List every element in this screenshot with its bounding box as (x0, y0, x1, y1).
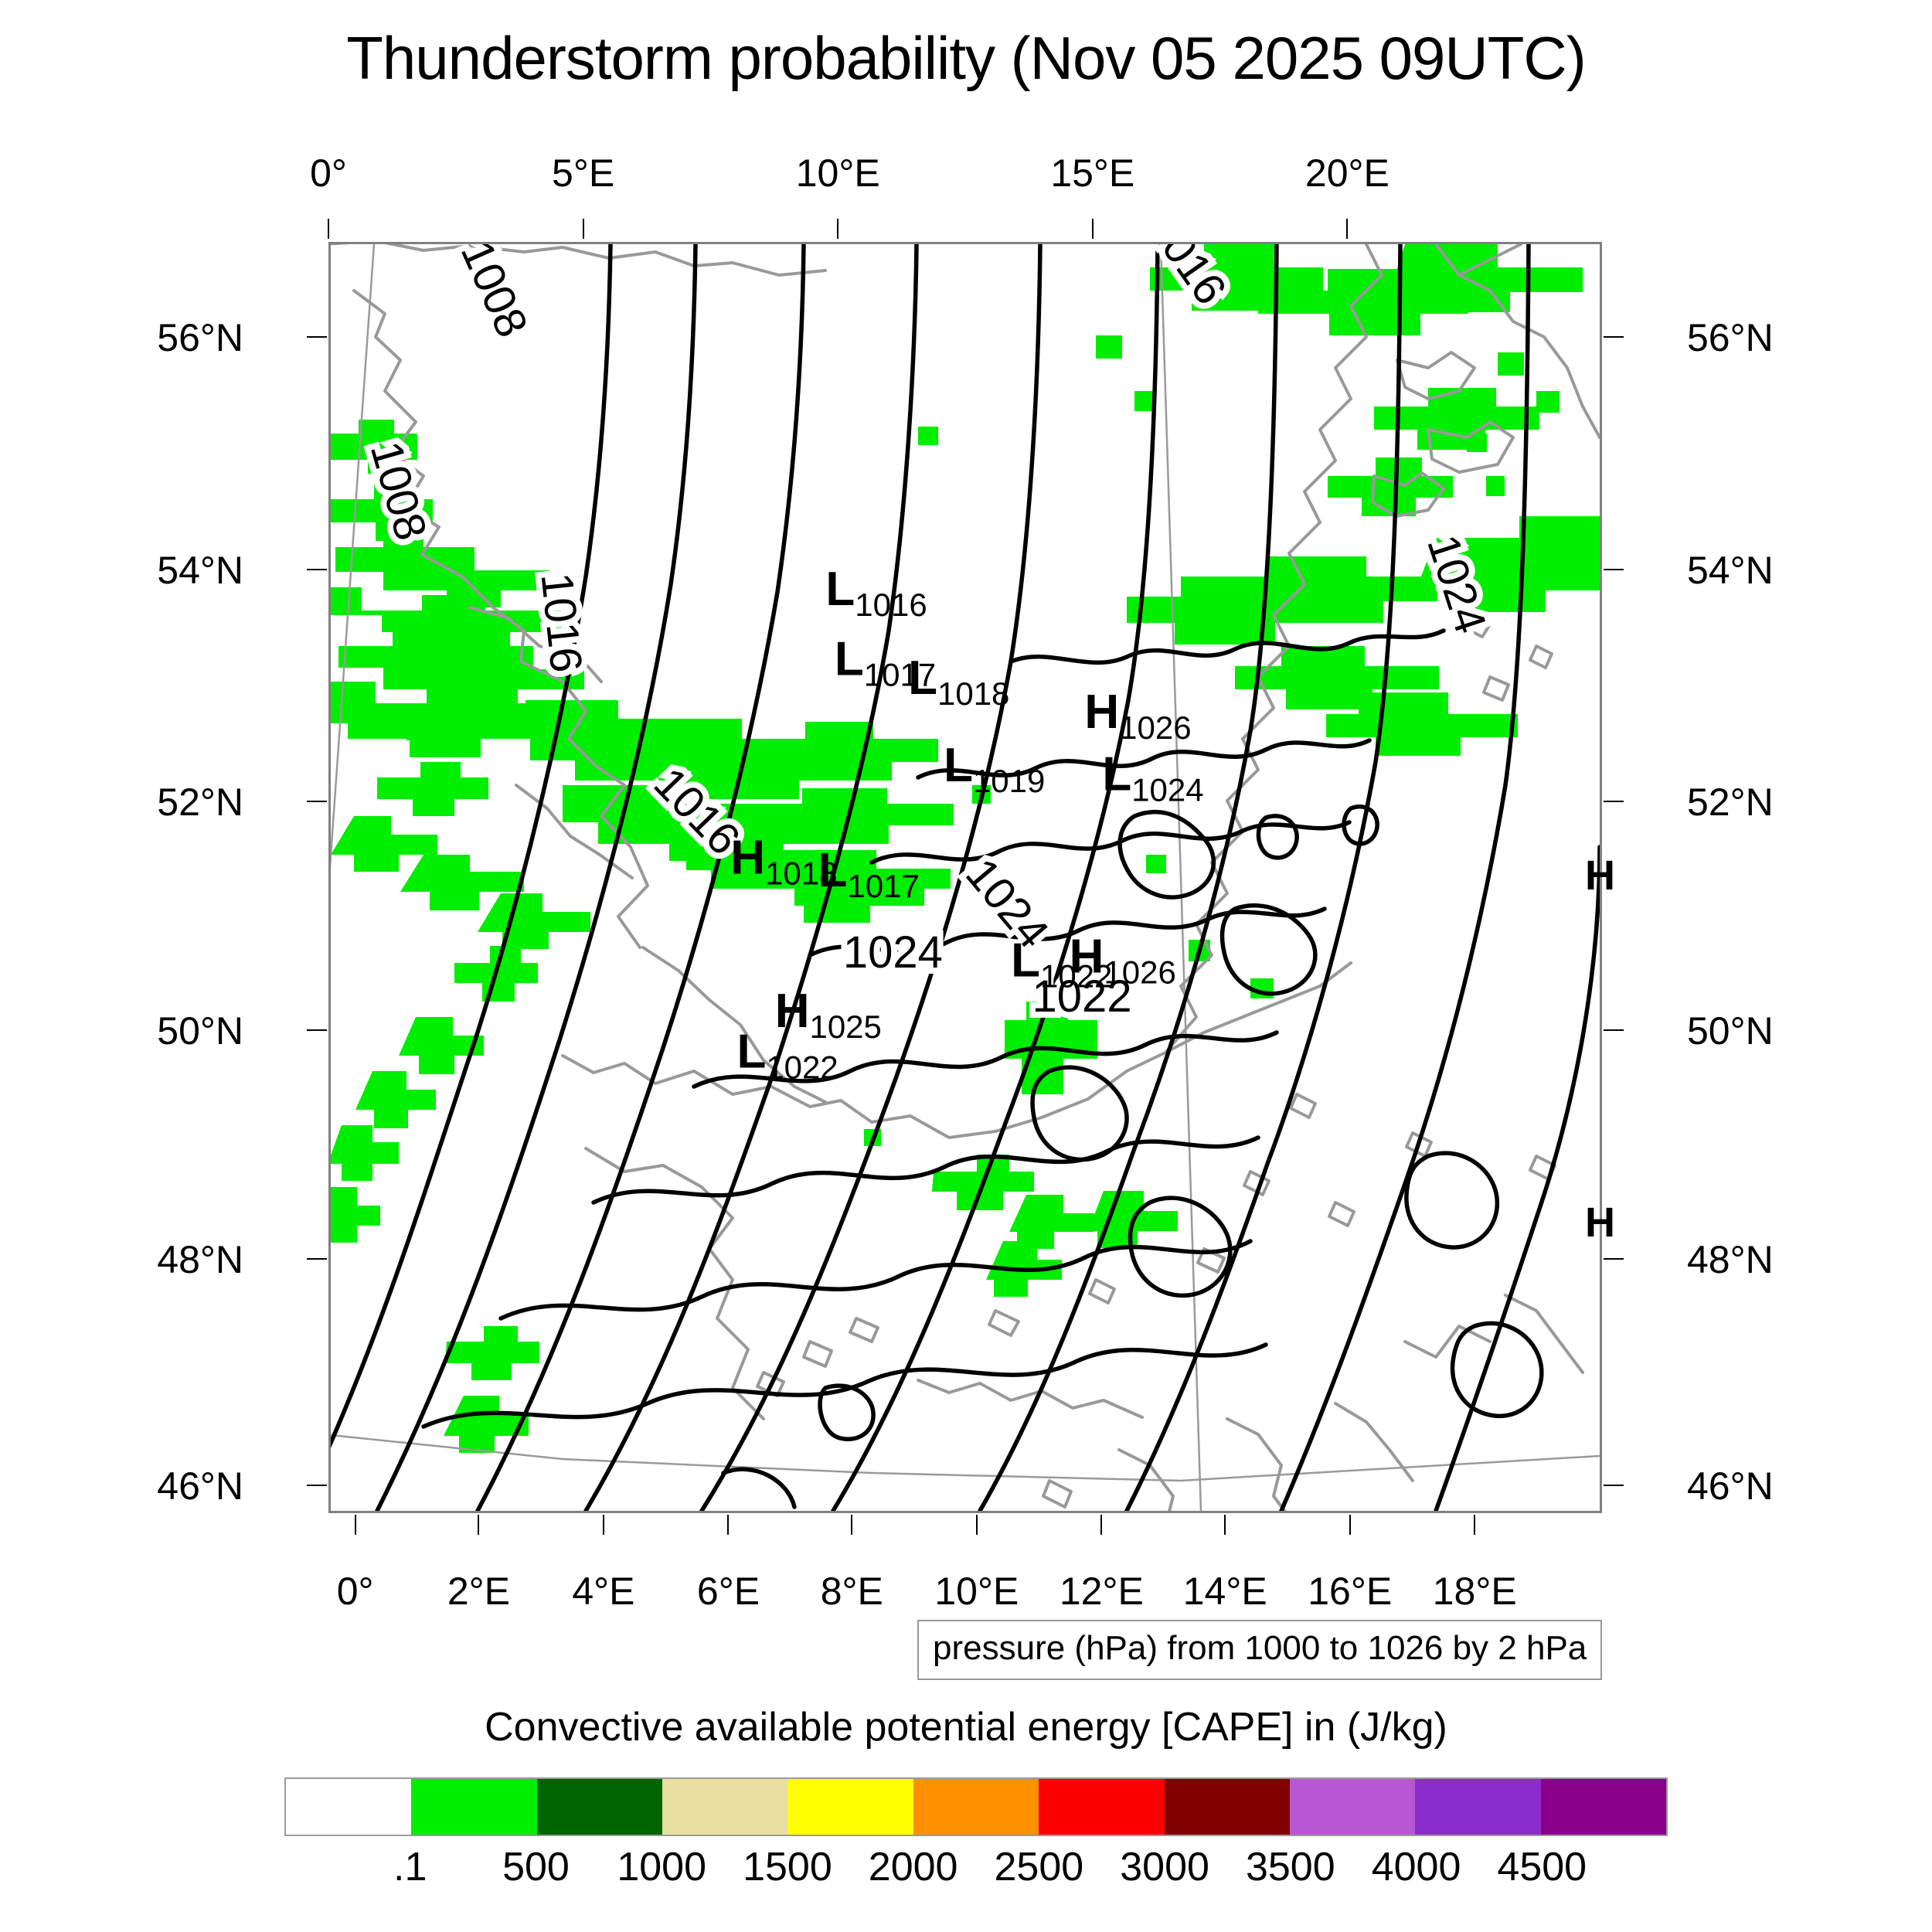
edge-high-marker-1: H (1585, 1202, 1615, 1243)
lat-tick-label-left-3: 50°N (27, 1009, 243, 1053)
colorbar-label-6: 3000 (1120, 1844, 1209, 1890)
pressure-extremum-h-9: H1026 (1070, 930, 1176, 990)
colorbar-label-4: 2000 (869, 1844, 958, 1890)
colorbar-cell-1[interactable] (411, 1779, 536, 1835)
colorbar-cell-2[interactable] (537, 1779, 662, 1835)
lon-tick-label-bottom-7: 14°E (1183, 1569, 1267, 1614)
lat-tick-mark-left-2 (307, 801, 327, 802)
lat-tick-label-right-0: 56°N (1687, 315, 1774, 360)
lon-tick-mark-top-4 (1346, 219, 1348, 239)
lat-tick-mark-left-3 (307, 1029, 327, 1031)
lon-tick-label-bottom-5: 10°E (934, 1569, 1019, 1614)
lat-tick-mark-right-5 (1604, 1485, 1624, 1486)
pressure-extremum-l-2: L1018 (908, 651, 1009, 712)
colorbar-label-8: 4000 (1372, 1844, 1461, 1890)
lon-tick-label-top-4: 20°E (1305, 151, 1389, 196)
contour-label-6: 1024 (956, 849, 1059, 958)
lat-tick-mark-left-1 (307, 569, 327, 570)
lon-tick-mark-bottom-3 (727, 1515, 729, 1535)
lon-tick-mark-bottom-6 (1100, 1515, 1102, 1535)
lat-tick-mark-right-2 (1604, 801, 1624, 802)
colorbar-cell-6[interactable] (1039, 1779, 1164, 1835)
lon-tick-label-top-3: 15°E (1050, 151, 1134, 196)
colorbar-cell-5[interactable] (913, 1779, 1039, 1835)
lon-tick-mark-bottom-1 (478, 1515, 479, 1535)
lon-tick-label-top-1: 5°E (552, 151, 614, 196)
lat-tick-label-left-1: 54°N (27, 548, 243, 593)
colorbar-label-9: 4500 (1497, 1844, 1587, 1890)
lon-tick-label-bottom-6: 12°E (1060, 1569, 1144, 1614)
pressure-extremum-l-0: L1016 (825, 563, 927, 623)
lat-tick-mark-left-4 (307, 1258, 327, 1260)
lat-tick-label-right-3: 50°N (1687, 1009, 1774, 1053)
edge-high-marker-0: H (1585, 855, 1615, 896)
lat-tick-mark-left-5 (307, 1485, 327, 1486)
colorbar-title: Convective available potential energy [C… (0, 1704, 1932, 1750)
map-canvas: 1008100810081008101610161016101610161016… (331, 244, 1600, 1511)
lon-tick-mark-bottom-8 (1349, 1515, 1351, 1535)
lon-tick-mark-bottom-7 (1224, 1515, 1226, 1535)
lat-tick-label-left-0: 56°N (27, 315, 243, 360)
lon-tick-mark-bottom-4 (851, 1515, 852, 1535)
latitude-axis-left: 56°N54°N52°N50°N48°N46°N (0, 0, 328, 1932)
lon-tick-mark-bottom-2 (603, 1515, 604, 1535)
lat-tick-mark-right-4 (1604, 1258, 1624, 1260)
lon-tick-mark-top-1 (583, 219, 584, 239)
lon-tick-label-bottom-1: 2°E (447, 1569, 510, 1614)
colorbar-label-2: 1000 (617, 1844, 706, 1890)
lon-tick-label-bottom-0: 0° (337, 1569, 374, 1614)
lat-tick-label-right-1: 54°N (1687, 548, 1774, 593)
lat-tick-label-right-4: 48°N (1687, 1237, 1774, 1282)
colorbar-label-7: 3500 (1246, 1844, 1335, 1890)
lon-tick-label-bottom-8: 16°E (1308, 1569, 1392, 1614)
colorbar-label-0: .1 (393, 1844, 427, 1890)
contour-label-7: 1024 (843, 927, 943, 978)
colorbar-label-5: 2500 (995, 1844, 1084, 1890)
lat-tick-mark-right-1 (1604, 569, 1624, 570)
map-plot-area[interactable]: 1008100810081008101610161016101610161016… (328, 242, 1602, 1513)
colorbar[interactable] (284, 1777, 1668, 1836)
pressure-legend-box: pressure (hPa) from 1000 to 1026 by 2 hP… (917, 1620, 1602, 1680)
lon-tick-label-bottom-3: 6°E (697, 1569, 760, 1614)
colorbar-cell-4[interactable] (787, 1779, 913, 1835)
colorbar-label-3: 1500 (743, 1844, 832, 1890)
lat-tick-label-left-5: 46°N (27, 1464, 243, 1509)
colorbar-cell-10[interactable] (1541, 1779, 1666, 1835)
lon-tick-mark-bottom-5 (976, 1515, 978, 1535)
lon-tick-mark-bottom-9 (1474, 1515, 1475, 1535)
lon-tick-mark-bottom-0 (355, 1515, 356, 1535)
colorbar-label-1: 500 (502, 1844, 570, 1890)
lat-tick-label-left-4: 48°N (27, 1237, 243, 1282)
lat-tick-label-left-2: 52°N (27, 780, 243, 825)
lon-tick-mark-top-2 (837, 219, 838, 239)
lat-tick-label-right-5: 46°N (1687, 1464, 1774, 1509)
lat-tick-label-right-2: 52°N (1687, 780, 1774, 825)
pressure-extremum-h-10: H1025 (775, 985, 882, 1045)
colorbar-cell-8[interactable] (1290, 1779, 1415, 1835)
cape-shaded-field (331, 244, 1600, 1453)
longitude-axis-bottom: 0°2°E4°E6°E8°E10°E12°E14°E16°E18°E (0, 1513, 1932, 1637)
colorbar-cell-7[interactable] (1165, 1779, 1290, 1835)
lon-tick-mark-top-3 (1092, 219, 1094, 239)
lon-tick-label-bottom-2: 4°E (572, 1569, 634, 1614)
colorbar-cell-9[interactable] (1415, 1779, 1540, 1835)
lat-tick-mark-right-0 (1604, 336, 1624, 338)
colorbar-cell-0[interactable] (286, 1779, 411, 1835)
lat-tick-mark-right-3 (1604, 1029, 1624, 1031)
lat-tick-mark-left-0 (307, 336, 327, 338)
latitude-axis-right: 56°N54°N52°N50°N48°N46°NHH (1602, 0, 1932, 1932)
lon-tick-label-top-2: 10°E (796, 151, 880, 196)
lon-tick-label-bottom-9: 18°E (1433, 1569, 1517, 1614)
lon-tick-label-bottom-4: 8°E (821, 1569, 883, 1614)
contour-label-0: 1008 (451, 244, 538, 345)
contour-label-1: 1008 (361, 436, 437, 546)
contour-label-2: 1016 (531, 570, 591, 675)
colorbar-tick-labels: .150010001500200025003000350040004500 (284, 1844, 1668, 1898)
colorbar-cell-3[interactable] (662, 1779, 787, 1835)
